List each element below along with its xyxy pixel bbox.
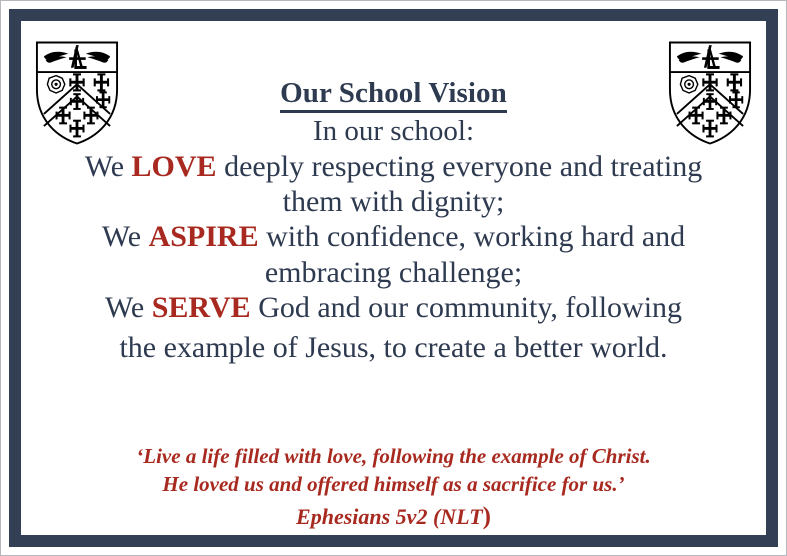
page-title-row: Our School Vision — [21, 77, 766, 114]
vision-keyword-love: LOVE — [132, 150, 217, 183]
vision-aspire-text-1: We — [102, 220, 149, 253]
vision-line-love: We LOVE deeply respecting everyone and t… — [21, 149, 766, 184]
vision-line-serve: We SERVE God and our community, followin… — [21, 290, 766, 325]
vision-keyword-serve: SERVE — [152, 291, 251, 324]
vision-line-aspire-cont: embracing challenge; — [21, 255, 766, 290]
vision-serve-text-1: We — [105, 291, 152, 324]
scripture-reference-close-paren: ) — [483, 503, 491, 530]
scripture-quote-line-2: He loved us and offered himself as a sac… — [21, 471, 766, 499]
scripture-block: ‘Live a life filled with love, following… — [21, 443, 766, 536]
vision-text-block: Our School Vision In our school: We LOVE… — [21, 77, 766, 369]
poster-inner: Our School Vision In our school: We LOVE… — [21, 21, 766, 535]
scripture-reference: Ephesians 5v2 (NLT) — [21, 498, 766, 536]
vision-poster: Our School Vision In our school: We LOVE… — [0, 0, 787, 556]
vision-intro-line: In our school: — [21, 114, 766, 148]
vision-line-serve-cont: the example of Jesus, to create a better… — [21, 326, 766, 370]
vision-aspire-text-2: with confidence, working hard and — [259, 220, 686, 253]
vision-line-love-cont: them with dignity; — [21, 184, 766, 219]
scripture-reference-text: Ephesians 5v2 (NLT — [296, 504, 483, 529]
vision-keyword-aspire: ASPIRE — [149, 220, 259, 253]
scripture-quote-line-1: ‘Live a life filled with love, following… — [21, 443, 766, 471]
vision-love-text-1: We — [85, 150, 132, 183]
poster-frame: Our School Vision In our school: We LOVE… — [9, 9, 778, 547]
vision-line-aspire: We ASPIRE with confidence, working hard … — [21, 219, 766, 254]
page-title: Our School Vision — [280, 77, 507, 113]
vision-serve-text-2: God and our community, following — [251, 291, 682, 324]
vision-love-text-2: deeply respecting everyone and treating — [217, 150, 703, 183]
